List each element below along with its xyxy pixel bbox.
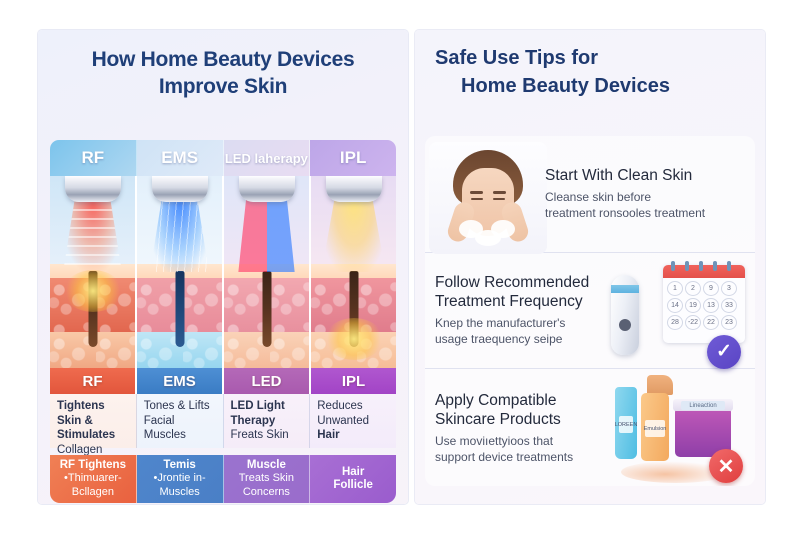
tip-2-sub-line2: usage traеquency seipe [435,331,589,347]
calendar-day[interactable]: 23 [721,315,737,330]
pill-rf-title: RF Tightens [60,459,126,473]
desc-ipl-rest: Hair [317,429,339,441]
jar-label: Lineaction [681,401,725,410]
ems-skin-cross-section [137,264,222,368]
illustration-ems [137,176,224,368]
ems-hair-follicle-icon [175,271,184,348]
right-title-line1: Safe Use Tips for [435,47,598,69]
desc-rf-bold: Tightens Skin & Stimulates [57,400,115,441]
led-skin-cross-section [224,264,309,368]
calendar-icon: 1 2 9 3 14 19 13 33 28 -22 22 23 [663,265,745,343]
tip-2-subtitle: Knep the manufacturer's usage traеquency… [435,315,589,347]
x-badge-icon: ✕ [709,449,743,483]
checkmark-badge-icon: ✓ [707,335,741,369]
tip-3-subtitle: Use moviıettyioos that support device tr… [435,433,573,465]
device-chip-rf[interactable]: RF [50,140,137,176]
ipl-device-head-icon [326,176,382,202]
tips-list: Start With Clean Skin Cleanse skin befor… [425,136,755,486]
illustration-led [224,176,311,368]
device-calendar-illustration: 1 2 9 3 14 19 13 33 28 -22 22 23 [609,257,749,369]
device-chip-led[interactable]: LED laherapy [224,140,311,176]
calendar-day[interactable]: 9 [703,281,719,296]
toner-bottle-icon: LOREEN [615,387,637,459]
ipl-skin-cross-section [311,264,396,368]
device-description-rf: Tightens Skin & Stimulates Collagen [50,394,137,448]
desc-led-bold: LED Light Therapy [231,400,285,427]
skin-illustration-row [50,176,396,368]
tip-3-sub-line2: support device treatments [435,449,573,465]
desc-rf-rest: Collagen [57,444,102,456]
calendar-day[interactable]: -22 [685,315,701,330]
device-label-ems: EMS [137,368,224,394]
tip-item-skincare-products[interactable]: Apply Compatible Skincare Products Use m… [425,369,755,486]
illustration-rf [50,176,137,368]
skincare-products-illustration: LOREEN Emulsion Lineaction ✕ [611,373,751,485]
pump-head-icon [647,375,673,395]
led-hair-follicle-icon [262,271,271,348]
tip-2-title: Follow Recommended Treatment Frequency [435,273,589,311]
pill-rf-sub2: Bcllagen [72,486,114,500]
pill-ems-title: Temis [163,459,195,473]
calendar-day[interactable]: 2 [685,281,701,296]
benefit-pill-led[interactable]: Muscle Treats Skin Concerns [224,455,311,503]
tip-1-sub-line2: treatment ronsooles treatment [545,205,745,221]
left-panel-title: How Home Beauty Devices Improve Skin [38,30,408,100]
beauty-wand-device-icon [611,275,639,355]
device-chip-ems[interactable]: EMS [137,140,224,176]
calendar-day[interactable]: 3 [721,281,737,296]
tip-1-sub-line1: Cleanse skin before [545,189,745,205]
calendar-grid: 1 2 9 3 14 19 13 33 28 -22 22 23 [667,281,741,330]
illustration-ipl [311,176,396,368]
device-description-ipl: Reduces Unwanted Hair [310,394,396,448]
pill-led-title: Muscle [247,459,286,473]
foam-icon [475,230,501,246]
tip-3-title: Apply Compatible Skincare Products [435,391,573,429]
device-chip-row: RF EMS LED laherapy IPL [50,140,396,176]
device-label-row: RF EMS LED IPL [50,368,396,394]
rf-collagen-glow-icon [64,270,122,312]
right-title-line2: Home Beauty Devices [435,72,745,100]
emulsion-bottle-icon: Emulsion [641,393,669,461]
bottle2-label: Emulsion [645,420,665,436]
left-title-line2: Improve Skin [56,73,390,100]
tip-item-clean-skin[interactable]: Start With Clean Skin Cleanse skin befor… [425,136,755,253]
left-panel: How Home Beauty Devices Improve Skin RF … [38,30,408,504]
desc-ems-bold: Tones & [144,400,186,412]
benefit-pill-row: RF Tightens •Thimuarer- Bcllagen Temis •… [50,455,396,503]
infographic-canvas: How Home Beauty Devices Improve Skin RF … [0,0,800,533]
calendar-day[interactable]: 19 [685,298,701,313]
right-panel: Safe Use Tips for Home Beauty Devices [415,30,765,504]
benefit-pill-rf[interactable]: RF Tightens •Thimuarer- Bcllagen [50,455,137,503]
rf-device-head-icon [65,176,121,202]
ipl-follicle-glow-icon [325,318,383,360]
tip-3-title-line2: Skincare Products [435,410,573,429]
tip-2-title-line2: Treatment Frequency [435,292,589,311]
pill-led-sub1: Treats Skin [239,472,294,486]
tip-2-sub-line1: Knep the manufacturer's [435,315,589,331]
eye-left-icon [471,198,483,200]
tip-1-text: Start With Clean Skin Cleanse skin befor… [545,166,745,221]
bottle1-label: LOREEN [619,416,633,433]
device-label-ipl: IPL [311,368,396,394]
benefit-pill-ipl[interactable]: Hair Follicle [310,455,396,503]
device-description-row: Tightens Skin & Stimulates Collagen Tone… [50,394,396,448]
tip-1-title: Start With Clean Skin [545,166,745,185]
right-panel-title: Safe Use Tips for Home Beauty Devices [415,30,765,100]
tip-2-text: Follow Recommended Treatment Frequency K… [435,273,589,347]
pill-rf-sub1: •Thimuarer- [64,472,122,486]
left-title-line1: How Home Beauty Devices [56,46,390,73]
device-description-ems: Tones & Lifts Facial Muscles [137,394,224,448]
tip-3-title-line1: Apply Compatible [435,391,573,410]
face-washing-illustration [429,142,547,254]
tip-3-sub-line1: Use moviıettyioos that [435,433,573,449]
eye-right-icon [493,198,505,200]
tip-item-treatment-frequency[interactable]: Follow Recommended Treatment Frequency K… [425,253,755,370]
calendar-day[interactable]: 13 [703,298,719,313]
tip-1-subtitle: Cleanse skin before treatment ronsooles … [545,189,745,221]
device-chip-ipl[interactable]: IPL [310,140,396,176]
pill-ipl-sub1: Follicle [333,479,373,493]
led-device-head-icon [239,176,295,202]
tip-2-title-line1: Follow Recommended [435,273,589,292]
benefit-pill-ems[interactable]: Temis •Jrontie in- Muscles [137,455,224,503]
desc-ipl-bold: Reduces Unwanted [317,400,369,427]
calendar-day[interactable]: 14 [667,298,683,313]
calendar-day[interactable]: 22 [703,315,719,330]
device-description-led: LED Light Therapy Freats Skin [224,394,311,448]
pill-led-sub2: Concerns [243,486,290,500]
calendar-day[interactable]: 33 [721,298,737,313]
device-label-led: LED [224,368,311,394]
pill-ipl-title: Hair [342,466,364,480]
rf-skin-cross-section [50,264,135,368]
tip-3-text: Apply Compatible Skincare Products Use m… [435,391,573,465]
pill-ems-sub2: Muscles [159,486,199,500]
calendar-day[interactable]: 1 [667,281,683,296]
calendar-header-bar [663,265,745,278]
device-label-rf: RF [50,368,137,394]
pill-ems-sub1: •Jrontie in- [154,472,206,486]
ems-device-head-icon [152,176,208,202]
desc-led-rest: Freats Skin [231,429,289,441]
calendar-day[interactable]: 28 [667,315,683,330]
